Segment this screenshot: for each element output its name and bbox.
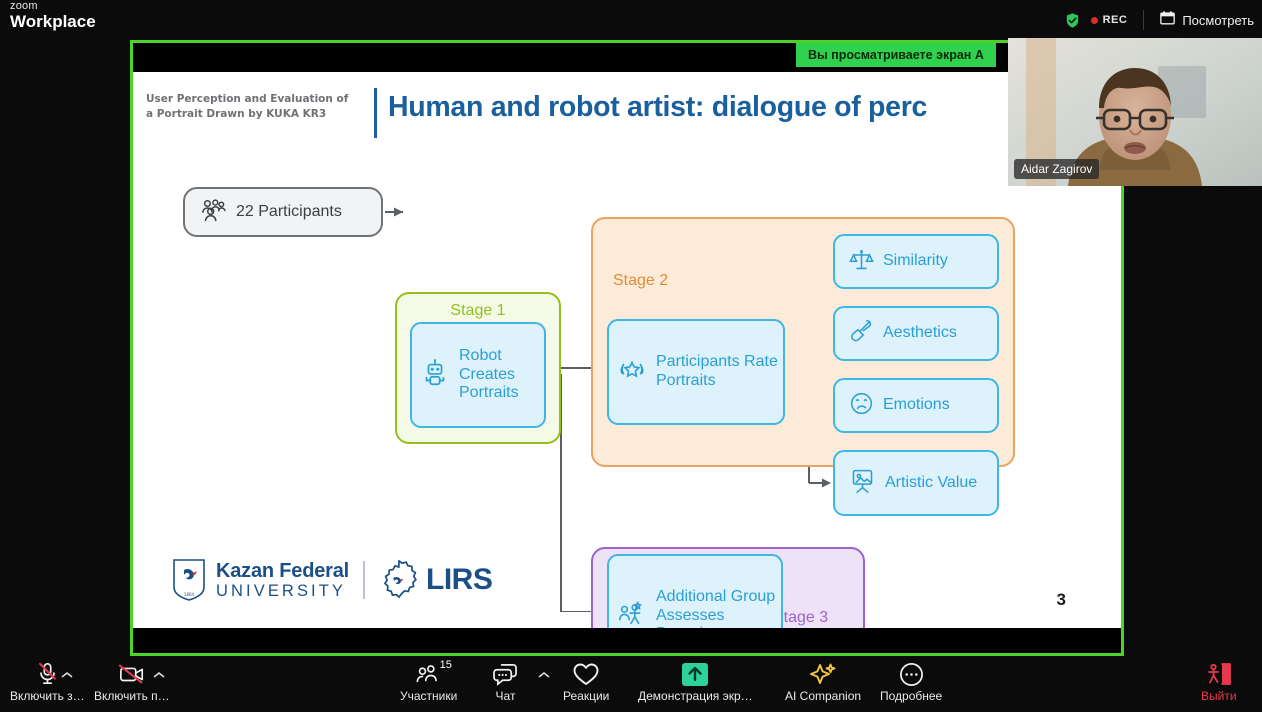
leave-button[interactable]: Выйти	[1201, 662, 1237, 703]
chat-icon	[493, 662, 518, 686]
header-divider	[374, 88, 377, 138]
presentation-slide: User Perception and Evaluation of a Port…	[133, 72, 1121, 628]
people-assess-icon	[617, 599, 647, 629]
node-robot-label: Robot Creates Portraits	[459, 347, 544, 404]
participants-icon: 15	[416, 662, 442, 686]
slide-title: Human and robot artist: dialogue of perc	[388, 91, 927, 124]
kazan-federal-university-logo: 1804 Kazan Federal UNIVERSITY	[171, 558, 349, 602]
shield-check-icon[interactable]	[1064, 12, 1081, 29]
leave-label: Выйти	[1201, 689, 1237, 703]
toolbar-divider	[1143, 10, 1144, 30]
participants-label: Участники	[400, 689, 457, 703]
reactions-label: Реакции	[563, 689, 609, 703]
chat-label: Чат	[496, 689, 516, 703]
criterion-label: Artistic Value	[885, 474, 977, 493]
share-screen-icon	[680, 662, 710, 686]
video-options-caret-icon[interactable]	[152, 668, 166, 682]
paintbrush-icon	[849, 319, 874, 349]
sharing-banner-text: Вы просматриваете экран A	[808, 48, 984, 62]
scales-icon	[849, 247, 874, 277]
lirs-wordmark: LIRS	[426, 563, 492, 597]
robot-icon	[420, 358, 450, 393]
svg-text:1804: 1804	[184, 592, 195, 597]
ai-companion-button[interactable]: AI Companion	[785, 662, 861, 703]
record-dot-icon	[1091, 17, 1098, 24]
kfu-wordmark: Kazan Federal UNIVERSITY	[216, 561, 349, 600]
recording-label: REC	[1103, 14, 1128, 26]
kfu-line-1: Kazan Federal	[216, 561, 349, 581]
leave-door-icon	[1205, 662, 1233, 686]
zoom-workplace-logo: zoom Workplace	[10, 1, 96, 30]
zoom-meeting-window: zoom Workplace REC Посмотреть Вы просмат…	[0, 0, 1262, 712]
top-bar: zoom Workplace REC Посмотреть	[0, 0, 1262, 40]
stage-1-label: Stage 1	[395, 302, 561, 320]
participants-count-label: 22 Participants	[236, 203, 342, 222]
audio-options-caret-icon[interactable]	[60, 668, 74, 682]
kfu-crest-icon: 1804	[171, 558, 207, 602]
kfu-line-2: UNIVERSITY	[216, 583, 349, 600]
workflow-diagram: Stage 1 Stage 2 Stage 3	[133, 142, 1121, 612]
reactions-button[interactable]: Реакции	[563, 662, 609, 703]
node-participants: 22 Participants	[183, 187, 383, 237]
brand-zoom: zoom	[10, 1, 96, 12]
view-button[interactable]: Посмотреть	[1160, 11, 1254, 30]
brand-workplace: Workplace	[10, 13, 96, 30]
audio-label: Включить з…	[10, 689, 85, 703]
node-additional-group-assesses: Additional Group Assesses Portraits	[607, 554, 783, 628]
heart-icon	[573, 662, 599, 686]
laurel-star-icon	[617, 355, 647, 390]
artwork-icon	[849, 467, 876, 499]
chat-button[interactable]: Чат	[493, 662, 518, 703]
camera-muted-icon	[119, 662, 145, 686]
logo-divider	[363, 561, 365, 599]
recording-indicator[interactable]: REC	[1091, 14, 1128, 26]
chat-options-caret-icon[interactable]	[537, 668, 551, 682]
group-people-icon	[199, 197, 227, 228]
sparkle-icon	[809, 662, 837, 686]
microphone-muted-icon	[36, 662, 59, 686]
ellipsis-icon	[899, 662, 924, 686]
node-criterion-artistic-value: Artistic Value	[833, 450, 999, 516]
criterion-label: Similarity	[883, 252, 948, 271]
criterion-label: Emotions	[883, 396, 950, 415]
slide-subtitle: User Perception and Evaluation of a Port…	[146, 92, 351, 122]
more-label: Подробнее	[880, 689, 942, 703]
participant-video-thumbnail[interactable]: Aidar Zagirov	[1008, 38, 1262, 186]
ai-companion-label: AI Companion	[785, 689, 861, 703]
lirs-gear-icon	[379, 560, 419, 600]
lirs-logo: LIRS	[379, 560, 492, 600]
share-screen-label: Демонстрация экр…	[638, 689, 753, 703]
stage-2-label: Stage 2	[613, 272, 668, 290]
participant-name-label: Aidar Zagirov	[1014, 159, 1099, 179]
participants-count-badge: 15	[440, 659, 452, 671]
video-label: Включить п…	[94, 689, 170, 703]
calendar-icon	[1160, 11, 1175, 30]
sharing-banner: Вы просматриваете экран A	[796, 43, 996, 67]
slide-page-number: 3	[1057, 590, 1066, 610]
slide-footer-logos: 1804 Kazan Federal UNIVERSITY LIRS	[171, 558, 492, 602]
more-button[interactable]: Подробнее	[880, 662, 942, 703]
emotion-face-icon	[849, 391, 874, 421]
node-criterion-similarity: Similarity	[833, 234, 999, 289]
node-rate-label: Participants Rate Portraits	[656, 353, 783, 391]
participants-button[interactable]: 15 Участники	[400, 662, 457, 703]
node-participants-rate-portraits: Participants Rate Portraits	[607, 319, 785, 425]
meeting-toolbar: Включить з… Включить п…	[0, 656, 1262, 712]
criterion-label: Aesthetics	[883, 324, 957, 343]
node-robot-creates-portraits: Robot Creates Portraits	[410, 322, 546, 428]
share-screen-button[interactable]: Демонстрация экр…	[638, 662, 753, 703]
view-label: Посмотреть	[1182, 13, 1254, 28]
slide-header: User Perception and Evaluation of a Port…	[146, 88, 1121, 140]
top-bar-right-group: REC Посмотреть	[1064, 0, 1254, 40]
node-criterion-aesthetics: Aesthetics	[833, 306, 999, 361]
node-criterion-emotions: Emotions	[833, 378, 999, 433]
shared-screen-frame: Вы просматриваете экран A User Perceptio…	[130, 40, 1124, 656]
node-extra-label: Additional Group Assesses Portraits	[656, 588, 781, 628]
